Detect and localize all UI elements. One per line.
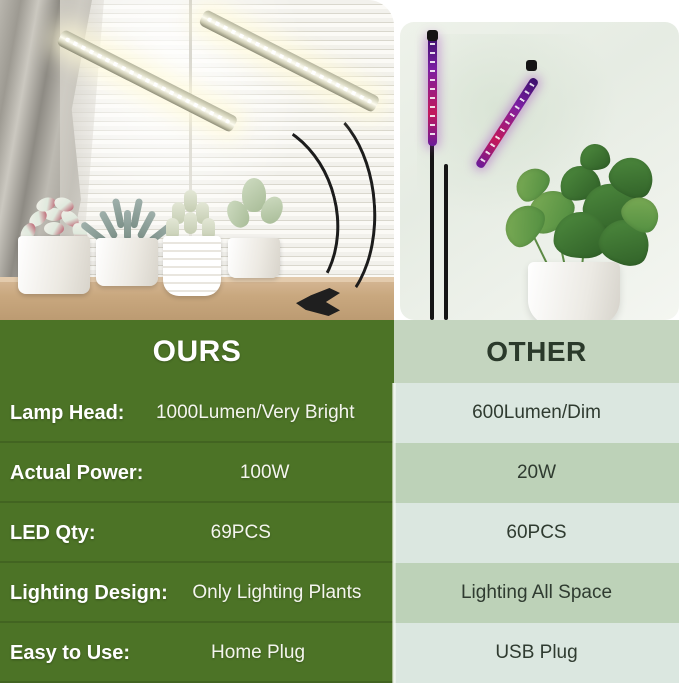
other-cell: 60PCS — [394, 503, 679, 563]
philodendron-foliage — [496, 136, 664, 276]
grey-succulent — [92, 184, 166, 242]
other-header-label: OTHER — [486, 336, 587, 368]
ours-column-header: OURS — [0, 320, 394, 383]
ours-value: 100W — [143, 462, 386, 484]
table-row: Lighting Design: Only Lighting Plants Li… — [0, 563, 679, 623]
ours-header-label: OURS — [153, 335, 242, 369]
other-value: 600Lumen/Dim — [472, 402, 601, 424]
other-product-photo — [400, 22, 679, 320]
other-value: 60PCS — [506, 522, 566, 544]
ours-value: 69PCS — [96, 522, 386, 544]
other-cell: 600Lumen/Dim — [394, 383, 679, 443]
succulent-pot-1 — [18, 236, 90, 294]
table-row: Easy to Use: Home Plug USB Plug — [0, 623, 679, 683]
table-row: Lamp Head: 1000Lumen/Very Bright 600Lume… — [0, 383, 679, 443]
table-row: LED Qty: 69PCS 60PCS — [0, 503, 679, 563]
lamp-stand-2 — [444, 164, 448, 320]
feature-label: Lighting Design: — [10, 582, 168, 605]
photo-band — [0, 0, 679, 322]
other-value: USB Plug — [495, 642, 577, 664]
column-divider — [392, 383, 396, 683]
uv-led-strip-1 — [428, 36, 437, 146]
table-row: Actual Power: 100W 20W — [0, 443, 679, 503]
ours-value: 1000Lumen/Very Bright — [124, 402, 386, 424]
product-comparison-infographic: OURS OTHER Lamp Head: 1000Lumen/Very Bri… — [0, 0, 679, 683]
other-column-header: OTHER — [394, 320, 679, 383]
other-cell: 20W — [394, 443, 679, 503]
uv-strip-tip-1 — [427, 30, 438, 41]
other-value: Lighting All Space — [461, 582, 612, 604]
uv-strip-tip-2 — [526, 60, 537, 71]
lamp-stand-1 — [430, 140, 434, 320]
ours-cell: Actual Power: 100W — [0, 443, 394, 503]
succulent-pot-2 — [96, 238, 158, 286]
other-cell: Lighting All Space — [394, 563, 679, 623]
ours-product-photo — [0, 0, 394, 322]
other-cell: USB Plug — [394, 623, 679, 683]
ours-value: Only Lighting Plants — [168, 582, 386, 604]
feature-label: Lamp Head: — [10, 402, 124, 425]
ours-cell: Lighting Design: Only Lighting Plants — [0, 563, 394, 623]
ours-cell: Easy to Use: Home Plug — [0, 623, 394, 683]
feature-label: Actual Power: — [10, 462, 143, 485]
white-plant-pot — [528, 262, 620, 320]
ours-value: Home Plug — [130, 642, 386, 664]
echeveria-succulent — [14, 192, 94, 240]
ours-cell: LED Qty: 69PCS — [0, 503, 394, 563]
other-value: 20W — [517, 462, 556, 484]
comparison-table: Lamp Head: 1000Lumen/Very Bright 600Lume… — [0, 383, 679, 683]
ours-cell: Lamp Head: 1000Lumen/Very Bright — [0, 383, 394, 443]
feature-label: Easy to Use: — [10, 642, 130, 665]
feature-label: LED Qty: — [10, 522, 96, 545]
